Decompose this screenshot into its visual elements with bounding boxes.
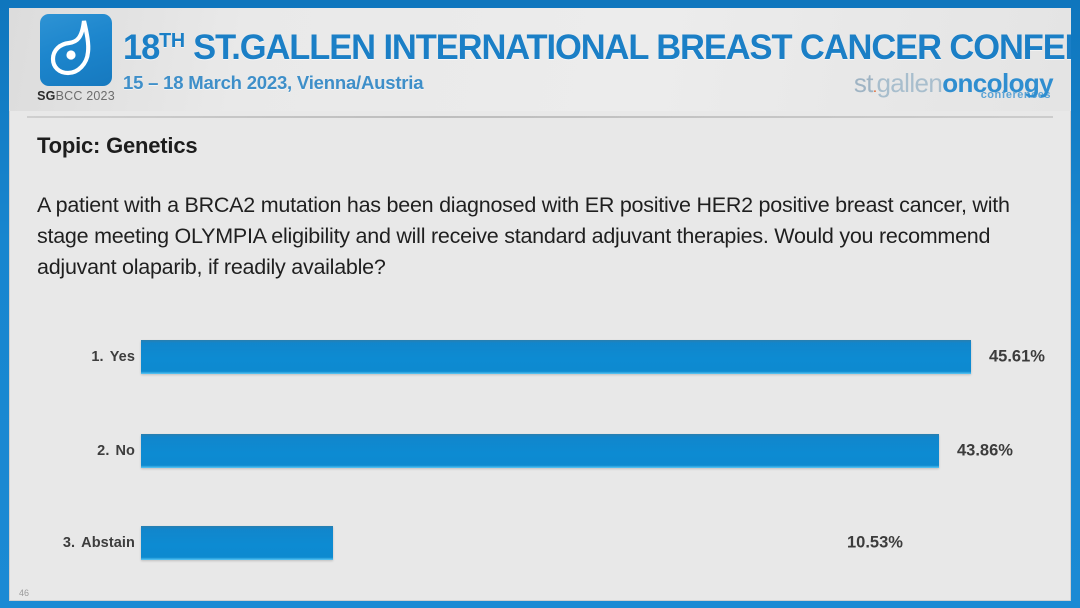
- bar-label-index: 3.: [63, 535, 75, 551]
- slide-number: 46: [19, 588, 29, 598]
- conference-title: 18TH ST.GALLEN INTERNATIONAL BREAST CANC…: [123, 22, 1037, 67]
- bar-fill: [141, 340, 971, 374]
- conference-logo: SGBCC 2023: [28, 14, 124, 103]
- slide-canvas: SGBCC 2023 18TH ST.GALLEN INTERNATIONAL …: [9, 8, 1071, 601]
- conference-title-ordinal: TH: [159, 30, 184, 52]
- logo-caption: SGBCC 2023: [28, 89, 124, 103]
- bar-value-label: 45.61%: [989, 348, 1045, 367]
- bar-row: 1.Yes45.61%: [9, 334, 1071, 380]
- brand-st: st: [854, 68, 873, 98]
- poll-results-chart: 1.Yes45.61%2.No43.86%3.Abstain10.53%: [9, 320, 1071, 580]
- topic-heading: Topic: Genetics: [37, 133, 197, 159]
- bar-track: 45.61%: [141, 334, 1051, 380]
- logo-caption-bold: SG: [37, 89, 55, 103]
- bar-track: 43.86%: [141, 428, 1051, 474]
- conference-title-text: ST.GALLEN INTERNATIONAL BREAST CANCER CO…: [185, 28, 1071, 67]
- slide-frame: SGBCC 2023 18TH ST.GALLEN INTERNATIONAL …: [0, 0, 1080, 608]
- bar-label-text: Abstain: [81, 535, 135, 551]
- brand-gallen: gallen: [876, 68, 942, 98]
- bar-label: 3.Abstain: [37, 535, 135, 551]
- bar-label-text: No: [115, 443, 135, 459]
- brand-subtitle: conferences: [981, 90, 1051, 101]
- bar-value-label: 10.53%: [847, 534, 903, 553]
- bar-label: 1.Yes: [37, 349, 135, 365]
- st-gallen-oncology-logo: st.gallenoncology conferences: [854, 70, 1053, 96]
- bar-row: 2.No43.86%: [9, 428, 1071, 474]
- bar-label-index: 1.: [91, 349, 103, 365]
- logo-caption-rest: BCC 2023: [56, 89, 115, 103]
- header-divider: [27, 116, 1053, 118]
- conference-title-number: 18: [123, 28, 159, 67]
- bar-track: 10.53%: [141, 520, 1051, 566]
- question-text: A patient with a BRCA2 mutation has been…: [37, 190, 1037, 283]
- bar-value-label: 43.86%: [957, 442, 1013, 461]
- bar-label-text: Yes: [110, 349, 135, 365]
- sgbcc-breast-logo-icon: [40, 14, 112, 86]
- bar-row: 3.Abstain10.53%: [9, 520, 1071, 566]
- slide-header: SGBCC 2023 18TH ST.GALLEN INTERNATIONAL …: [9, 8, 1071, 111]
- bar-label-index: 2.: [97, 443, 109, 459]
- bar-fill: [141, 434, 939, 468]
- bar-fill: [141, 526, 333, 560]
- bar-label: 2.No: [37, 443, 135, 459]
